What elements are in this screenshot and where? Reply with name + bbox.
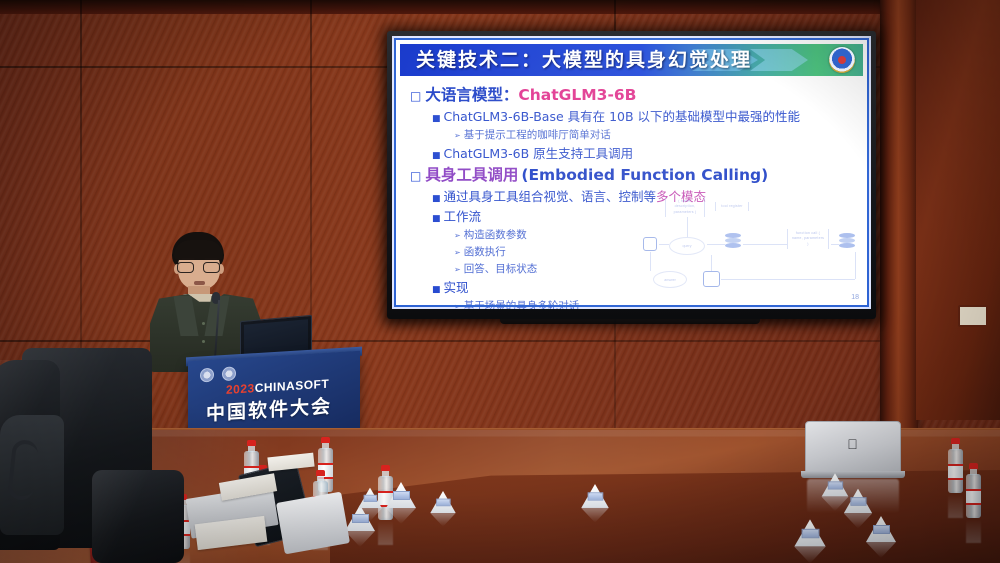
presentation-slide: 关键技术二：大模型的具身幻觉处理 □ 大语言模型： ChatGLM3-6B ■ … (396, 40, 867, 305)
bullet-level2: ■ ChatGLM3-6B 原生支持工具调用 (432, 144, 857, 164)
presenter-mouth (194, 281, 205, 285)
square-outline-marker-icon: □ (410, 167, 421, 185)
table-front-panel (330, 470, 1000, 563)
user-person-icon (643, 237, 657, 251)
podium-year: 2023 (226, 381, 255, 397)
diagram-connector (721, 279, 855, 280)
wall-panel-right (916, 0, 1000, 420)
diagram-connector (711, 255, 712, 271)
bullet-level1: □ 大语言模型： ChatGLM3-6B (410, 84, 857, 107)
nameplate-stand[interactable] (581, 484, 609, 508)
wall-top-trim (0, 0, 1000, 14)
square-filled-marker-icon: ■ (432, 150, 441, 164)
bullet-text: 回答、目标状态 (464, 261, 538, 278)
robot-icon (703, 271, 720, 287)
office-chair-seat (92, 470, 184, 563)
diagram-connector (855, 252, 856, 279)
television-display[interactable]: 关键技术二：大模型的具身幻觉处理 □ 大语言模型： ChatGLM3-6B ■ … (387, 31, 876, 319)
nameplate-stand[interactable] (794, 519, 826, 546)
bullet-level2: ■ ChatGLM3-6B-Base 具有在 10B 以下的基础模型中最强的性能 (432, 107, 857, 127)
wall-seam-vertical (310, 0, 312, 360)
bullet-text: 工作流 (444, 207, 482, 226)
slide-title: 关键技术二：大模型的具身幻觉处理 (400, 44, 863, 76)
slide-page-number: 18 (851, 294, 859, 301)
apple-logo-icon:  (846, 437, 859, 452)
diagram-connector (707, 244, 725, 245)
square-filled-marker-icon: ■ (432, 193, 441, 207)
conference-room-scene: 关键技术二：大模型的具身幻觉处理 □ 大语言模型： ChatGLM3-6B ■ … (0, 0, 1000, 563)
database-icon (839, 233, 855, 251)
bullet-highlight: ChatGLM3-6B (518, 84, 636, 107)
bullet-text: ChatGLM3-6B 原生支持工具调用 (444, 144, 634, 163)
diagram-node-function-call: function call ( name, parameters ) (787, 229, 829, 249)
bullet-text: 具身工具调用 (425, 164, 518, 187)
presenter-eyebrow (181, 258, 195, 260)
jacket-button (202, 340, 205, 343)
square-filled-marker-icon: ■ (432, 284, 441, 298)
nameplate-stand[interactable] (386, 482, 416, 508)
bullet-text: 基于提示工程的咖啡厅简单对话 (464, 127, 611, 144)
square-outline-marker-icon: □ (410, 87, 421, 105)
bullet-text: 通过具身工具组合视觉、语言、控制等 (444, 187, 657, 206)
arrow-marker-icon: ➢ (454, 230, 461, 243)
bullet-text: 实现 (444, 278, 469, 297)
jacket-button (202, 322, 205, 325)
bullet-text: 构造函数参数 (464, 227, 527, 244)
diagram-connector (743, 244, 787, 245)
bullet-level3: ➢ 基于场景的具身多轮对话 (454, 298, 857, 309)
square-filled-marker-icon: ■ (432, 113, 441, 127)
arrow-marker-icon: ➢ (454, 130, 461, 143)
diagram-connector (687, 217, 688, 237)
bullet-text: 大语言模型： (425, 84, 518, 107)
tv-screen: 关键技术二：大模型的具身幻觉处理 □ 大语言模型： ChatGLM3-6B ■ … (392, 36, 871, 309)
arrow-marker-icon: ➢ (454, 301, 461, 309)
presenter-hair-front (174, 240, 223, 260)
nameplate-stand[interactable] (844, 489, 873, 514)
bullet-text: 基于场景的具身多轮对话 (464, 298, 580, 309)
diagram-node-query: query (669, 237, 705, 255)
diagram-node-tool-desc: ( name, description, parameters ) (665, 197, 705, 217)
database-icon (725, 233, 741, 251)
diagram-connector (831, 244, 839, 245)
square-filled-marker-icon: ■ (432, 213, 441, 227)
wall-switch-plate (958, 305, 988, 327)
bullet-text: ChatGLM3-6B-Base 具有在 10B 以下的基础模型中最强的性能 (444, 107, 801, 126)
macbook-base (801, 471, 905, 478)
diagram-connector (650, 252, 651, 271)
diagram-connector (659, 244, 669, 245)
macbook-laptop[interactable]:  (805, 421, 901, 473)
wall-pillar (880, 0, 918, 430)
slide-title-bar: 关键技术二：大模型的具身幻觉处理 (400, 44, 863, 76)
arrow-marker-icon: ➢ (454, 247, 461, 260)
bullet-level1: □ 具身工具调用 (Embodied Function Calling) (410, 164, 857, 187)
function-calling-workflow-diagram: ( name, description, parameters ) tool r… (643, 197, 861, 297)
arrow-marker-icon: ➢ (454, 264, 461, 277)
bullet-level3: ➢ 基于提示工程的咖啡厅简单对话 (454, 127, 857, 144)
university-emblem-icon (829, 47, 855, 73)
diagram-node-tool-register: tool register (715, 202, 749, 211)
eyeglasses-icon (177, 262, 222, 273)
diagram-node-answer: answer (653, 271, 687, 288)
presenter-eyebrow (204, 258, 218, 260)
nameplate-stand[interactable] (430, 491, 456, 513)
nameplate-stand[interactable] (358, 488, 382, 509)
nameplate-stand[interactable] (866, 516, 896, 542)
bullet-text: 函数执行 (464, 244, 506, 261)
bullet-highlight: (Embodied Function Calling) (521, 164, 768, 187)
